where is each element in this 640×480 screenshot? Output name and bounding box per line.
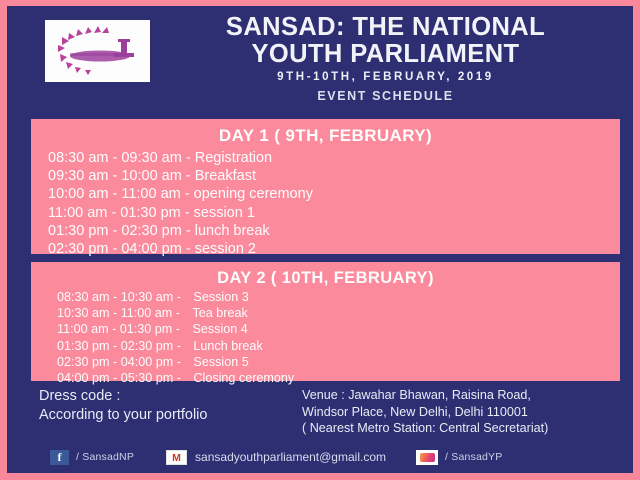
row-dash: -: [186, 168, 191, 184]
email-link[interactable]: M sansadyouthparliament@gmail.com: [166, 450, 386, 465]
row-activity: Session 4: [183, 322, 247, 336]
facebook-link[interactable]: f / SansadNP: [50, 450, 134, 465]
day1-rows: 08:30 am - 09:30 am - Registration 09:30…: [31, 149, 620, 258]
row-time: 11:00 am - 01:30 pm: [57, 322, 172, 336]
instagram-handle: / SansadYP: [445, 451, 502, 463]
row-activity: opening ceremony: [194, 186, 313, 202]
schedule-row: 10:30 am - 11:00 am - Tea break: [57, 305, 620, 321]
poster-root: SANSAD: THE NATIONAL YOUTH PARLIAMENT 9T…: [0, 0, 640, 480]
instagram-icon: [416, 450, 438, 465]
schedule-row: 02:30 pm - 04:00 pm - Session 5: [57, 354, 620, 370]
row-time: 02:30 pm - 04:00 pm: [48, 241, 182, 257]
row-dash: -: [176, 322, 180, 336]
row-dash: -: [185, 205, 190, 221]
row-dash: -: [177, 371, 181, 385]
row-time: 08:30 am - 10:30 am: [57, 290, 173, 304]
row-dash: -: [186, 241, 191, 257]
schedule-row: 11:00 am - 01:30 pm - Session 4: [57, 321, 620, 337]
dress-code-label: Dress code :: [39, 387, 294, 406]
facebook-icon: f: [50, 450, 69, 465]
row-dash: -: [176, 306, 180, 320]
row-dash: -: [177, 290, 181, 304]
schedule-row: 11:00 am - 01:30 pm - session 1: [48, 204, 620, 222]
row-activity: lunch break: [195, 223, 270, 239]
row-activity: Session 5: [184, 355, 248, 369]
event-subtitle: EVENT SCHEDULE: [156, 89, 615, 103]
day2-rows: 08:30 am - 10:30 am - Session 3 10:30 am…: [31, 289, 620, 386]
day1-title: DAY 1 ( 9TH, FEBRUARY): [31, 126, 620, 146]
row-activity: Breakfast: [195, 168, 256, 184]
day2-schedule-panel: DAY 2 ( 10TH, FEBRUARY) 08:30 am - 10:30…: [31, 262, 620, 381]
poster-header: SANSAD: THE NATIONAL YOUTH PARLIAMENT 9T…: [7, 6, 633, 110]
day1-schedule-panel: DAY 1 ( 9TH, FEBRUARY) 08:30 am - 09:30 …: [31, 119, 620, 254]
row-activity: session 1: [194, 205, 255, 221]
schedule-row: 08:30 am - 10:30 am - Session 3: [57, 289, 620, 305]
venue-line-1: Venue : Jawahar Bhawan, Raisina Road,: [302, 387, 548, 404]
row-dash: -: [186, 150, 191, 166]
social-footer: f / SansadNP M sansadyouthparliament@gma…: [7, 445, 633, 469]
schedule-row: 10:00 am - 11:00 am - opening ceremony: [48, 185, 620, 203]
row-activity: Registration: [195, 150, 272, 166]
schedule-row: 09:30 am - 10:00 am - Breakfast: [48, 167, 620, 185]
day2-title: DAY 2 ( 10TH, FEBRUARY): [31, 269, 620, 288]
schedule-row: 02:30 pm - 04:00 pm - session 2: [48, 240, 620, 258]
row-dash: -: [186, 223, 191, 239]
row-time: 11:00 am - 01:30 pm: [48, 205, 181, 221]
schedule-row: 04:00 pm - 05:30 pm - Closing ceremony: [57, 370, 620, 386]
row-dash: -: [177, 339, 181, 353]
email-address: sansadyouthparliament@gmail.com: [195, 450, 386, 464]
schedule-row: 08:30 am - 09:30 am - Registration: [48, 149, 620, 167]
title-line-1: SANSAD: THE NATIONAL: [156, 14, 615, 41]
row-dash: -: [185, 186, 190, 202]
schedule-row: 01:30 pm - 02:30 pm - Lunch break: [57, 338, 620, 354]
row-activity: session 2: [195, 241, 256, 257]
schedule-row: 01:30 pm - 02:30 pm - lunch break: [48, 222, 620, 240]
sansad-logo: [45, 20, 150, 82]
row-time: 01:30 pm - 02:30 pm: [57, 339, 173, 353]
venue-block: Venue : Jawahar Bhawan, Raisina Road, Wi…: [302, 387, 548, 447]
row-activity: Tea break: [183, 306, 247, 320]
event-date: 9TH-10TH, FEBRUARY, 2019: [156, 71, 615, 83]
row-time: 01:30 pm - 02:30 pm: [48, 223, 182, 239]
row-time: 04:00 pm - 05:30 pm: [57, 371, 173, 385]
title-line-2: YOUTH PARLIAMENT: [156, 41, 615, 68]
row-time: 08:30 am - 09:30 am: [48, 150, 182, 166]
row-time: 10:30 am - 11:00 am: [57, 306, 172, 320]
dress-code-block: Dress code : According to your portfolio: [39, 387, 294, 447]
gmail-icon: M: [166, 450, 187, 465]
dress-code-value: According to your portfolio: [39, 406, 294, 425]
poster-inner: SANSAD: THE NATIONAL YOUTH PARLIAMENT 9T…: [7, 6, 633, 473]
row-activity: Closing ceremony: [184, 371, 294, 385]
facebook-handle: / SansadNP: [76, 451, 134, 463]
instagram-link[interactable]: / SansadYP: [416, 450, 502, 465]
row-time: 10:00 am - 11:00 am: [48, 186, 181, 202]
row-dash: -: [177, 355, 181, 369]
sansad-emblem-icon: [48, 23, 148, 79]
venue-line-2: Windsor Place, New Delhi, Delhi 110001: [302, 404, 548, 421]
title-block: SANSAD: THE NATIONAL YOUTH PARLIAMENT 9T…: [156, 14, 633, 103]
info-block: Dress code : According to your portfolio…: [7, 387, 633, 447]
venue-line-3: ( Nearest Metro Station: Central Secreta…: [302, 420, 548, 437]
row-time: 02:30 pm - 04:00 pm: [57, 355, 173, 369]
row-time: 09:30 am - 10:00 am: [48, 168, 182, 184]
row-activity: Lunch break: [184, 339, 262, 353]
row-activity: Session 3: [184, 290, 248, 304]
